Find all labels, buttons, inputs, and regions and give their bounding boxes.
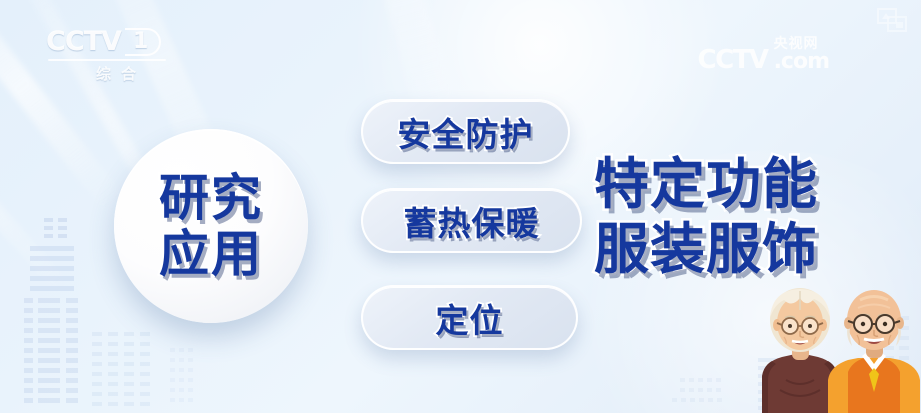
feature-pill-heat-retention[interactable]: 蓄热保暖	[361, 188, 582, 253]
feature-pill-positioning[interactable]: 定位	[361, 285, 578, 350]
feature-pill-safety-protection[interactable]: 安全防护	[361, 99, 570, 164]
watermark-right-group: 央视网 .com	[774, 36, 829, 73]
feature-pill-label: 蓄热保暖	[404, 197, 540, 245]
feature-pill-label: 定位	[436, 294, 504, 342]
elderly-man-figure	[828, 290, 920, 413]
watermark-brand: CCTV	[698, 47, 768, 73]
headline-block: 特定功能 服装服饰	[594, 152, 818, 282]
elderly-woman-figure	[762, 288, 838, 413]
cctv-wordmark: CCTV	[46, 26, 121, 57]
picture-in-picture-icon	[877, 8, 907, 32]
cctv-com-watermark: CCTV 央视网 .com	[698, 36, 829, 73]
watermark-domain: .com	[774, 51, 829, 73]
logo-underline	[48, 59, 166, 61]
headline-line-2: 服装服饰	[594, 217, 818, 282]
elderly-couple-illustration	[756, 288, 921, 413]
cctv-logo-icon: CCTV 1	[46, 26, 186, 57]
headline-line-1: 特定功能	[594, 152, 818, 217]
light-streak	[0, 60, 71, 295]
feature-pill-label: 安全防护	[398, 108, 534, 156]
badge-line-1: 研究	[159, 170, 263, 226]
cctv1-channel-bug: CCTV 1 综合	[46, 26, 186, 86]
badge-line-2: 应用	[159, 226, 263, 282]
research-application-badge[interactable]: 研究 应用	[114, 129, 308, 323]
channel-subtitle: 综合	[46, 63, 186, 84]
broadcast-graphic-stage: CCTV 1 综合 CCTV 央视网 .com 研究 应用 安全防护 蓄热保暖 …	[0, 0, 921, 413]
channel-number: 1	[125, 28, 161, 56]
